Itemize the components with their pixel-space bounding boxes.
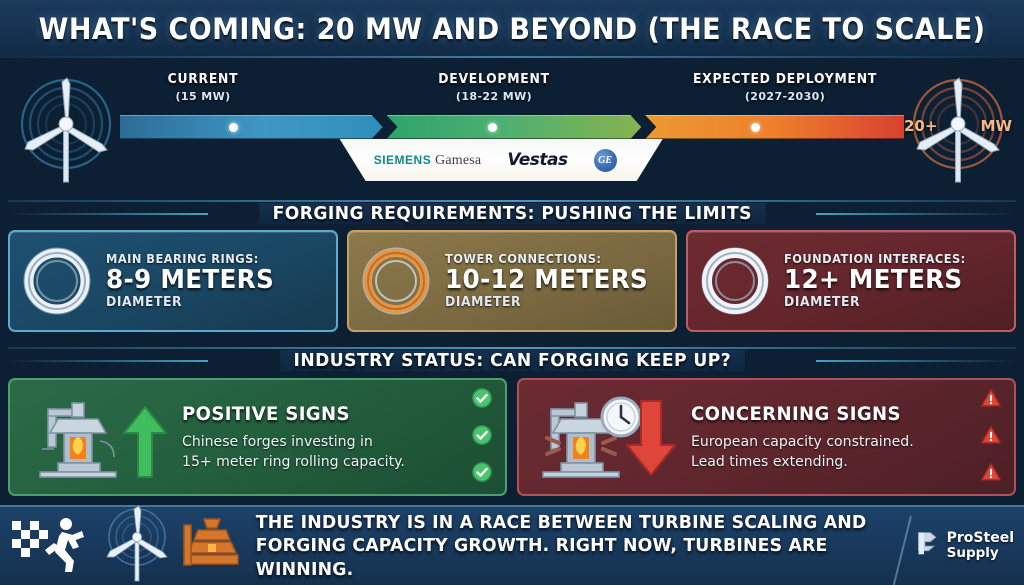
- timeline-dot-current: [229, 123, 238, 132]
- timeline-dot-deployment: [751, 123, 760, 132]
- concerning-marks: [978, 387, 1004, 488]
- title-band: WHAT'S COMING: 20 MW AND BEYOND (THE RAC…: [0, 0, 1024, 58]
- forging-heading: FORGING REQUIREMENTS: PUSHING THE LIMITS: [0, 196, 1024, 230]
- check-icon: [471, 461, 493, 488]
- brand-logo-strip: SIEMENS Gamesa Vestas GE: [328, 139, 663, 181]
- vestas-logo: Vestas: [507, 150, 567, 170]
- forge-anvil-icon: [178, 513, 244, 580]
- forging-card-foundation-interfaces[interactable]: FOUNDATION INTERFACES: 12+ METERS DIAMET…: [686, 230, 1016, 332]
- forging-cards-row: MAIN BEARING RINGS: 8-9 METERS DIAMETER …: [8, 230, 1016, 332]
- forging-heading-text: FORGING REQUIREMENTS: PUSHING THE LIMITS: [259, 203, 765, 224]
- turbine-icon-left: [6, 66, 126, 186]
- warning-icon: [980, 424, 1002, 451]
- warning-icon: [980, 387, 1002, 414]
- ring-icon: [359, 244, 433, 318]
- timeline-section: 20+ MW CURRENT (15 MW) DEVELOPMENT (18-2…: [0, 58, 1024, 196]
- siemens-gamesa-logo: SIEMENS Gamesa: [374, 152, 482, 169]
- ring-icon: [698, 244, 772, 318]
- footer-line-1: THE INDUSTRY IS IN A RACE BETWEEN TURBIN…: [256, 511, 873, 534]
- footer-icons: [10, 505, 244, 585]
- heading-rule-left: [8, 360, 208, 362]
- timeline-segment-deployment: [645, 115, 904, 139]
- turbine-icon-right: 20+ MW: [898, 66, 1018, 186]
- status-card-positive[interactable]: POSITIVE SIGNS Chinese forges investing …: [8, 378, 507, 496]
- status-heading: INDUSTRY STATUS: CAN FORGING KEEP UP?: [0, 343, 1024, 377]
- check-icon: [471, 424, 493, 451]
- ring-icon: [20, 244, 94, 318]
- status-heading-text: INDUSTRY STATUS: CAN FORGING KEEP UP?: [280, 350, 744, 371]
- forging-card-text: MAIN BEARING RINGS: 8-9 METERS DIAMETER: [106, 252, 326, 310]
- prosteel-supply-logo[interactable]: ProSteel Supply: [905, 529, 1014, 563]
- footer-line-2: FORGING CAPACITY GROWTH. RIGHT NOW, TURB…: [256, 534, 873, 581]
- forging-card-tower-connections[interactable]: TOWER CONNECTIONS: 10-12 METERS DIAMETER: [347, 230, 677, 332]
- timeline-label-current: CURRENT (15 MW): [166, 72, 240, 103]
- prosteel-mark-icon: [915, 529, 942, 563]
- timeline-dot-development: [488, 123, 497, 132]
- forge-furnace-up-icon: [20, 389, 170, 485]
- forge-furnace-clock-down-icon: [529, 389, 679, 485]
- infographic-poster: WHAT'S COMING: 20 MW AND BEYOND (THE RAC…: [0, 0, 1024, 585]
- timeline-track: [120, 115, 904, 139]
- status-card-text: POSITIVE SIGNS Chinese forges investing …: [180, 403, 459, 472]
- forging-card-text: TOWER CONNECTIONS: 10-12 METERS DIAMETER: [445, 252, 665, 310]
- check-icon: [471, 387, 493, 414]
- turbine-icon-footer: [98, 505, 176, 585]
- positive-marks: [469, 387, 495, 488]
- forging-card-text: FOUNDATION INTERFACES: 12+ METERS DIAMET…: [784, 252, 1004, 310]
- warning-icon: [980, 461, 1002, 488]
- timeline-segment-development: [387, 115, 642, 139]
- status-cards-row: POSITIVE SIGNS Chinese forges investing …: [8, 378, 1016, 496]
- footer-banner: THE INDUSTRY IS IN A RACE BETWEEN TURBIN…: [0, 505, 1024, 585]
- footer-message: THE INDUSTRY IS IN A RACE BETWEEN TURBIN…: [250, 511, 873, 581]
- timeline-label-development: DEVELOPMENT (18-22 MW): [435, 72, 552, 103]
- prosteel-wordmark: ProSteel Supply: [947, 531, 1014, 561]
- ge-logo: GE: [594, 149, 617, 172]
- race-runner-icon: [10, 511, 96, 582]
- heading-rule-right: [816, 213, 1016, 215]
- timeline-segment-current: [120, 115, 383, 139]
- page-title: WHAT'S COMING: 20 MW AND BEYOND (THE RAC…: [39, 12, 986, 46]
- forging-card-main-bearing-rings[interactable]: MAIN BEARING RINGS: 8-9 METERS DIAMETER: [8, 230, 338, 332]
- status-card-concerning[interactable]: CONCERNING SIGNS European capacity const…: [517, 378, 1016, 496]
- timeline-label-deployment: EXPECTED DEPLOYMENT (2027-2030): [688, 72, 882, 103]
- heading-rule-left: [8, 213, 208, 215]
- heading-rule-right: [816, 360, 1016, 362]
- status-card-text: CONCERNING SIGNS European capacity const…: [689, 403, 968, 472]
